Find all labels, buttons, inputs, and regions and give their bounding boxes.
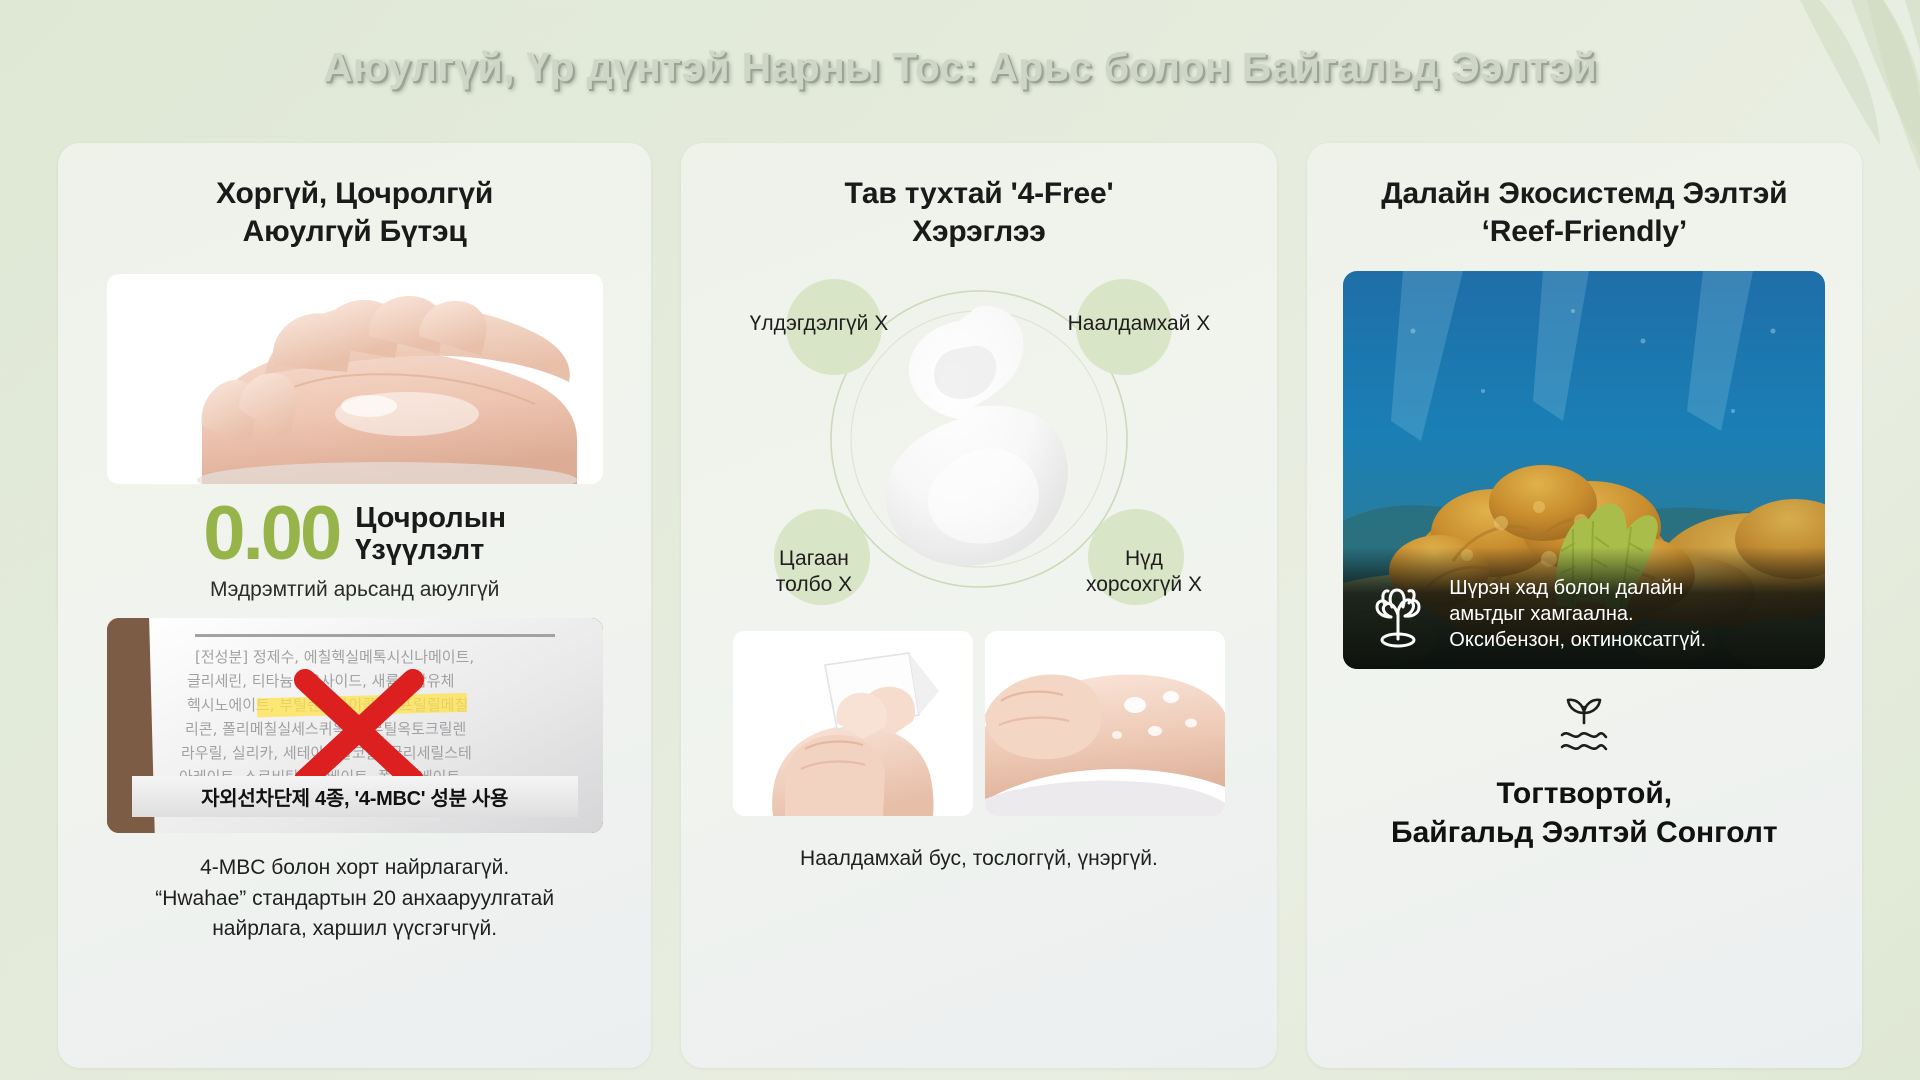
ingredient-label-photo: [전성분] 정제수, 에칠헥실메톡시신나메이트, 글리세린, 티타늄디옥사이드,… [107,618,603,833]
four-free-diagram: Үлдэгдэлгүй X Наалдамхай X Цагаан толбо … [744,269,1214,609]
coral-icon [1361,577,1435,651]
card-1-heading-line1: Хоргүй, Цочролгүй [78,175,631,213]
free-label-3-line2: толбо X [699,572,929,598]
score-label: Цочролын Үзүүлэлт [355,502,506,567]
card-2-heading-line1: Тав тухтай '4-Free' [701,175,1256,213]
card-3-footer: Тогтвортой, Байгальд Ээлтэй Сонголт [1307,775,1862,852]
score-subtext: Мэдрэмтгий арьсанд аюулгүй [58,578,651,602]
card-2-heading: Тав тухтай '4-Free' Хэрэглээ [681,143,1276,251]
card-3-footer-line2: Байгальд Ээлтэй Сонголт [1331,814,1838,852]
free-label-no-residue: Үлдэгдэлгүй X [704,311,934,337]
card-1-footer-line3: найрлага, харшил үүсгэгчгүй. [98,914,611,944]
free-label-4-line2: хорсохгүй X [1029,572,1259,598]
card-1-footer: 4-MBC болон хорт найрлагагүй. “Hwahae” с… [58,853,651,944]
free-label-4-line1: Нүд [1029,546,1259,572]
free-label-3-line1: Цагаан [699,546,929,572]
card-4free: Тав тухтай '4-Free' Хэрэглээ [681,143,1276,1068]
sprout-water-icon [1542,695,1626,755]
card-3-footer-line1: Тогтвортой, [1331,775,1838,813]
card-1-footer-line2: “Hwahae” стандартын 20 анхааруулгатай [98,884,611,914]
hand-applying-sunscreen-photo [107,274,603,484]
card-3-heading: Далайн Экосистемд Ээлтэй ‘Reef-Friendly’ [1307,143,1862,251]
svg-text:[전성분] 정제수, 에칠헥실메톡시신나메이트,: [전성분] 정제수, 에칠헥실메톡시신나메이트, [195,648,474,666]
free-label-no-white-cast: Цагаан толбо X [699,546,929,597]
svg-text:리콘, 폴리메칠실세스퀴옥산, 부틸옥토크릴렌: 리콘, 폴리메칠실세스퀴옥산, 부틸옥토크릴렌 [185,720,466,738]
reef-overlay-line1: Шүрэн хад болон далайн [1449,575,1706,601]
irritation-score: 0.00 Цочролын Үзүүлэлт [58,499,651,569]
blotting-paper-test-photo [733,631,973,816]
free-label-no-stickiness: Наалдамхай X [1024,311,1254,337]
card-3-heading-line1: Далайн Экосистемд Ээлтэй [1327,175,1842,213]
score-value: 0.00 [203,499,339,569]
cards-container: Хоргүй, Цочролгүй Аюулгүй Бүтэц [58,143,1862,1068]
card-nontoxic: Хоргүй, Цочролгүй Аюулгүй Бүтэц [58,143,651,1068]
card-1-footer-line1: 4-MBC болон хорт найрлагагүй. [98,853,611,883]
coral-reef-underwater-photo: Шүрэн хад болон далайн амьтдыг хамгаална… [1343,271,1825,669]
score-label-line1: Цочролын [355,502,506,534]
test-photos [681,631,1276,816]
score-label-line2: Үзүүлэлт [355,534,506,566]
reef-overlay-line2: амьтдыг хамгаална. [1449,601,1706,627]
card-2-footer: Наалдамхай бус, тослоггүй, үнэргүй. [681,844,1276,873]
cream-swatch-illustration [849,299,1114,584]
page-title: Аюулгүй, Үр дүнтэй Нарны Тос: Арьс болон… [0,44,1920,91]
card-reef-friendly: Далайн Экосистемд Ээлтэй ‘Reef-Friendly’ [1307,143,1862,1068]
free-label-no-eye-sting: Нүд хорсохгүй X [1029,546,1259,597]
card-1-heading: Хоргүй, Цочролгүй Аюулгүй Бүтэц [58,143,651,251]
label-photo-caption: 자외선차단제 4종, '4-MBC' 성분 사용 [132,776,578,817]
card-3-heading-line2: ‘Reef-Friendly’ [1327,213,1842,251]
reef-overlay-line3: Оксибензон, октиноксатгүй. [1449,627,1706,653]
card-1-heading-line2: Аюулгүй Бүтэц [78,213,631,251]
reef-overlay-text: Шүрэн хад болон далайн амьтдыг хамгаална… [1449,575,1706,653]
reef-overlay: Шүрэн хад болон далайн амьтдыг хамгаална… [1343,547,1825,669]
card-2-heading-line2: Хэрэглээ [701,213,1256,251]
sunscreen-drops-on-arm-photo [985,631,1225,816]
